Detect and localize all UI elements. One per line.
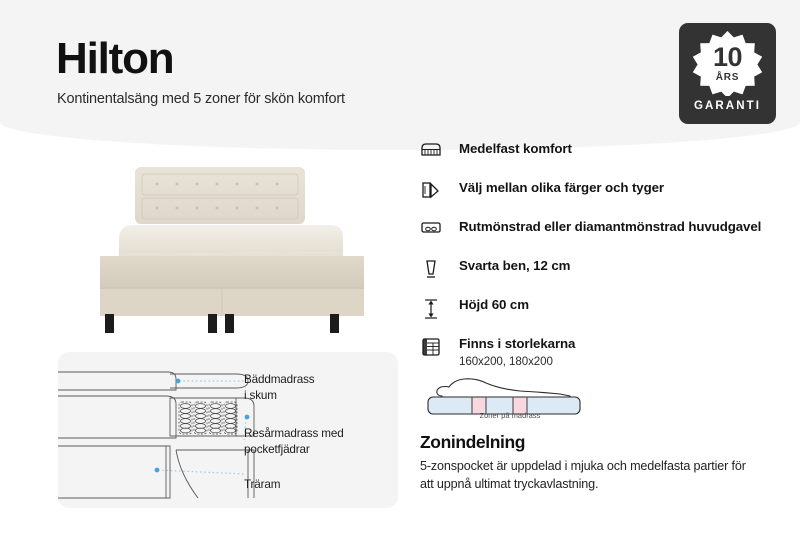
diagram-label-springmattress: Resårmadrass med pocketfjädrar [244, 426, 344, 457]
page-title: Hilton [56, 34, 173, 84]
feature-label: Medelfast komfort [459, 140, 572, 158]
height-arrow-icon [420, 296, 450, 321]
feature-label: Välj mellan olika färger och tyger [459, 179, 664, 197]
feature-label: Finns i storlekarna [459, 335, 575, 353]
feature-label: Höjd 60 cm [459, 296, 529, 314]
bed-product-image [62, 146, 402, 336]
zone-heading: Zonindelning [420, 432, 525, 453]
zone-caption: Zoner på madrass [420, 411, 600, 420]
feature-row: Höjd 60 cm [420, 296, 780, 322]
warranty-word: GARANTI [694, 100, 761, 112]
feature-list: Medelfast komfort Välj mellan olika färg… [420, 140, 780, 381]
fabric-swatch-icon [420, 179, 450, 200]
diagram-label-bedmattress: Bäddmadrass i skum [244, 372, 314, 403]
diagram-label-woodframe: Träram [244, 477, 280, 493]
page-subtitle: Kontinentalsäng med 5 zoner för skön kom… [57, 91, 345, 107]
bed-leg-icon [420, 257, 450, 280]
feature-label: Rutmönstrad eller diamantmönstrad huvudg… [459, 218, 761, 236]
zone-body-text: 5-zonspocket är uppdelad i mjuka och med… [420, 457, 755, 494]
diagram-label-line: Träram [244, 478, 280, 491]
feature-row: Välj mellan olika färger och tyger [420, 179, 780, 205]
diagram-label-line: Resårmadrass med pocketfjädrar [244, 427, 344, 456]
feature-label: Svarta ben, 12 cm [459, 257, 570, 275]
feature-row: Rutmönstrad eller diamantmönstrad huvudg… [420, 218, 780, 244]
feature-row: Svarta ben, 12 cm [420, 257, 780, 283]
starburst-icon: 10 ÅRS [692, 30, 763, 96]
warranty-badge: 10 ÅRS GARANTI [679, 23, 776, 124]
mattress-icon [420, 140, 450, 159]
bed-cutaway-diagram [58, 352, 398, 508]
diagram-label-line: Bäddmadrass i skum [244, 373, 314, 402]
feature-row: Finns i storlekarna 160x200, 180x200 [420, 335, 780, 368]
bed-size-icon [420, 335, 450, 358]
feature-row: Medelfast komfort [420, 140, 780, 166]
headboard-icon [420, 218, 450, 235]
